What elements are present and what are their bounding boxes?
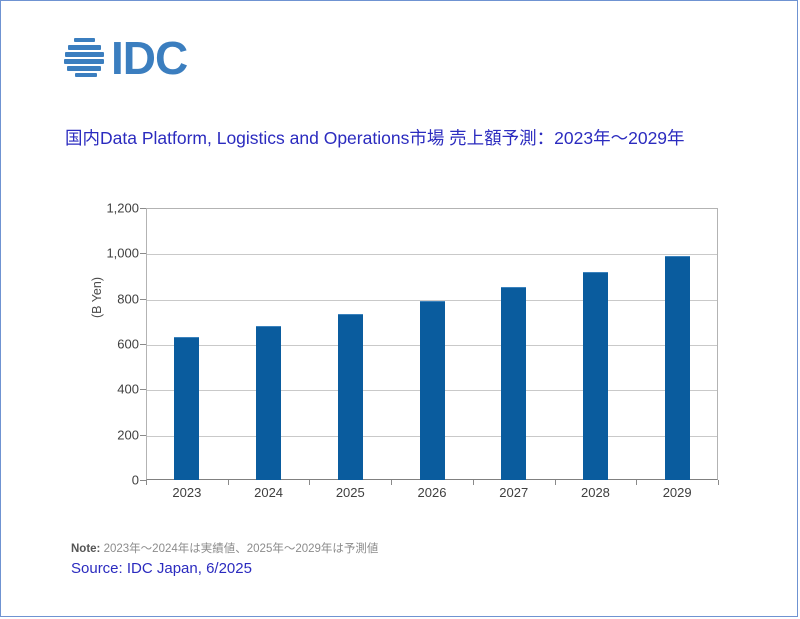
bar-2027[interactable] [501,287,526,480]
note-label: Note: [71,543,100,555]
y-axis-tick-labels: 1,200 1,000 800 600 400 200 0 [73,208,139,480]
y-tick-label: 1,000 [75,246,139,261]
footer: Note: 2023年〜2024年は実績値、2025年〜2029年は予測値 So… [71,541,378,579]
note-text: 2023年〜2024年は実績値、2025年〜2029年は予測値 [100,543,378,555]
bar-2029[interactable] [665,256,690,480]
bar-slot [228,208,310,480]
bar-slot [473,208,555,480]
y-tick-label: 0 [75,473,139,488]
bar-slot [391,208,473,480]
note-line: Note: 2023年〜2024年は実績値、2025年〜2029年は予測値 [71,541,378,557]
bar-2025[interactable] [338,314,363,480]
bar-2026[interactable] [420,301,445,480]
bar-2023[interactable] [174,337,199,480]
y-tick-label: 600 [75,337,139,352]
y-tick-label: 800 [75,291,139,306]
y-tick-label: 400 [75,382,139,397]
x-tick-label: 2024 [228,485,310,500]
x-tick-label: 2025 [309,485,391,500]
y-tick-label: 1,200 [75,201,139,216]
x-tick-label: 2027 [473,485,555,500]
bar-2024[interactable] [256,326,281,480]
y-tick-label: 200 [75,427,139,442]
bar-slot [309,208,391,480]
source-line: Source: IDC Japan, 6/2025 [71,559,378,579]
bar-2028[interactable] [583,272,608,480]
x-tick-label: 2026 [391,485,473,500]
bars-container [146,208,718,480]
x-tick-label: 2029 [636,485,718,500]
bar-slot [636,208,718,480]
bar-chart: (B Yen) 1,200 1,000 800 600 400 200 0 [1,1,799,618]
x-tick-label: 2023 [146,485,228,500]
x-axis-tick-labels: 2023 2024 2025 2026 2027 2028 2029 [146,485,718,500]
x-tick-label: 2028 [555,485,637,500]
x-tick-mark [718,480,719,485]
bar-slot [146,208,228,480]
bar-slot [555,208,637,480]
report-page: IDC 国内Data Platform, Logistics and Opera… [0,0,798,617]
